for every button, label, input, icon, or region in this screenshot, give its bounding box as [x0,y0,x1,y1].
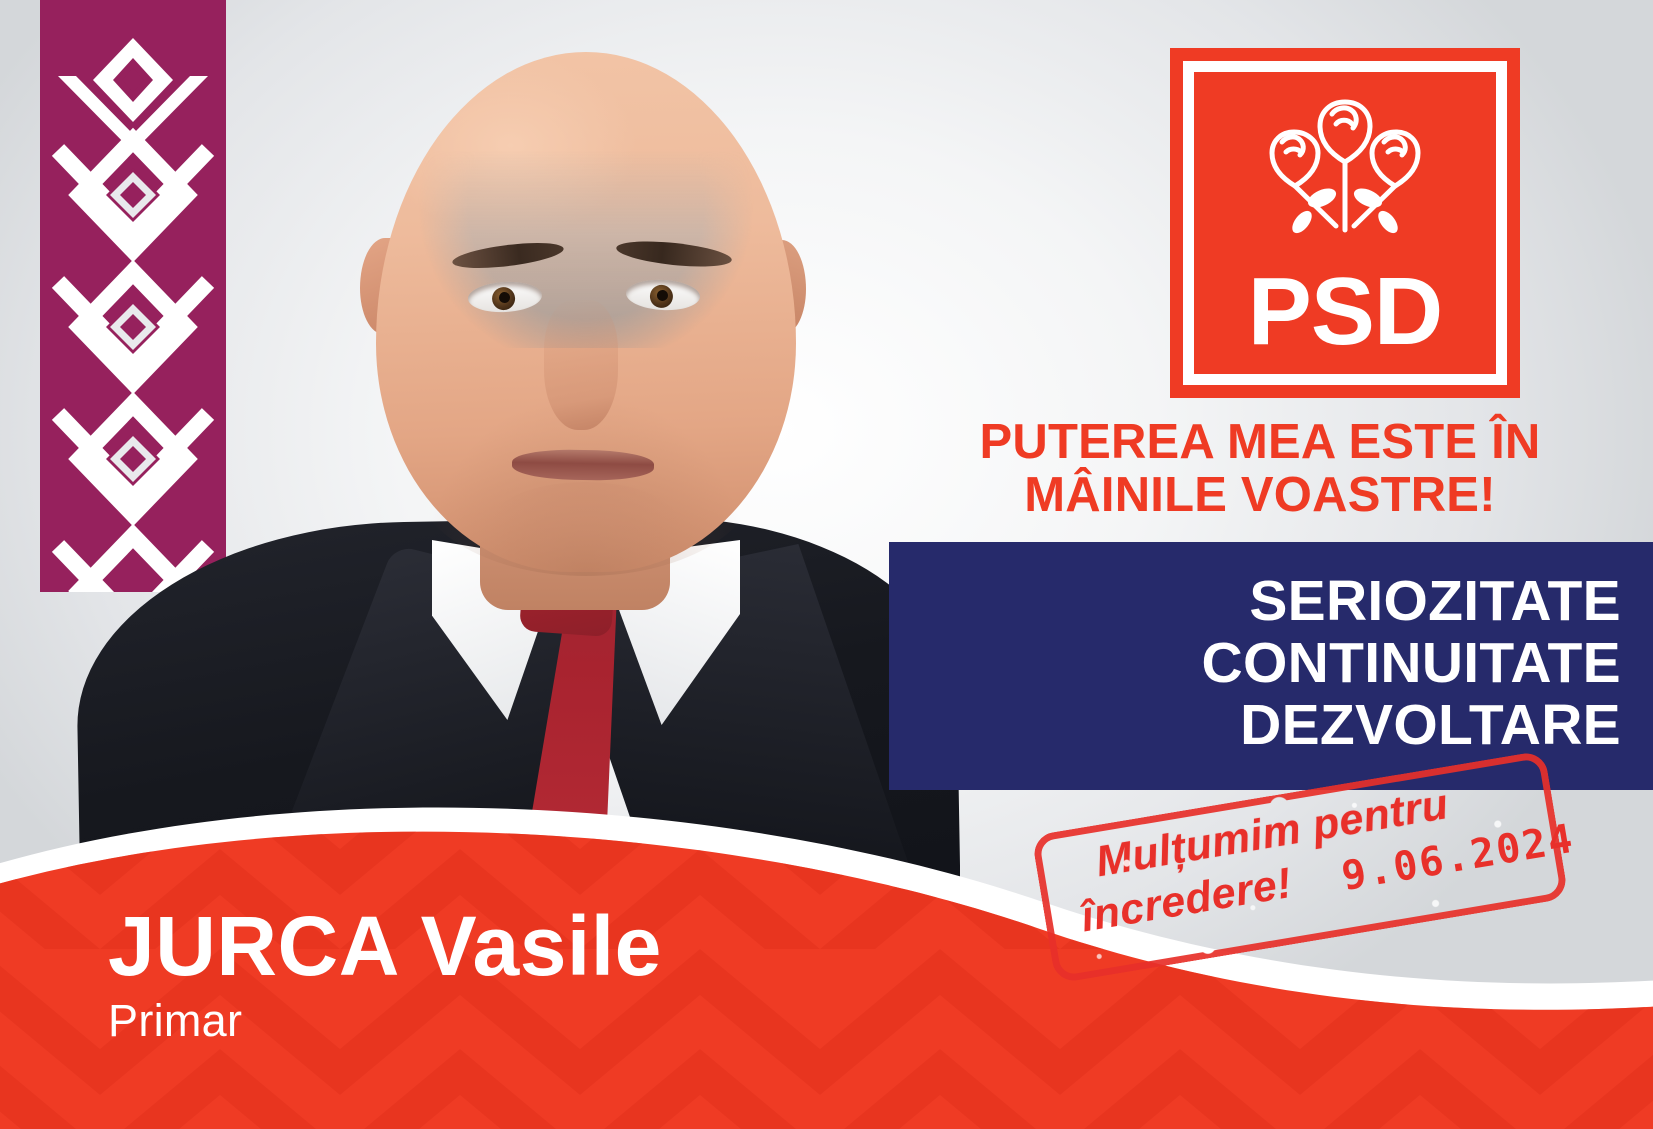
candidate-full-name: JURCA Vasile [108,903,662,989]
campaign-slogan: PUTEREA MEA ESTE ÎN MÂINILE VOASTRE! [950,416,1570,522]
slogan-line-2: MÂINILE VOASTRE! [950,469,1570,522]
candidate-name-block: JURCA Vasile Primar [108,903,662,1047]
psd-logo-inner-frame: PSD [1183,61,1507,385]
psd-logo: PSD [1170,48,1520,398]
slogan-line-1: PUTEREA MEA ESTE ÎN [979,415,1540,469]
chin [490,482,680,568]
candidate-role: Primar [108,995,662,1047]
candidate-surname: JURCA [108,899,397,993]
three-roses-icon [1250,90,1440,262]
nose [544,300,618,430]
values-text: SERIOZITATE CONTINUITATE DEZVOLTARE [1202,570,1621,756]
campaign-poster: JURCA Vasile Primar [0,0,1653,1129]
value-line-2: CONTINUITATE [1202,632,1621,694]
value-line-3: DEZVOLTARE [1202,694,1621,756]
candidate-given-name: Vasile [421,899,662,993]
value-line-1: SERIOZITATE [1202,570,1621,632]
psd-acronym: PSD [1248,264,1442,360]
